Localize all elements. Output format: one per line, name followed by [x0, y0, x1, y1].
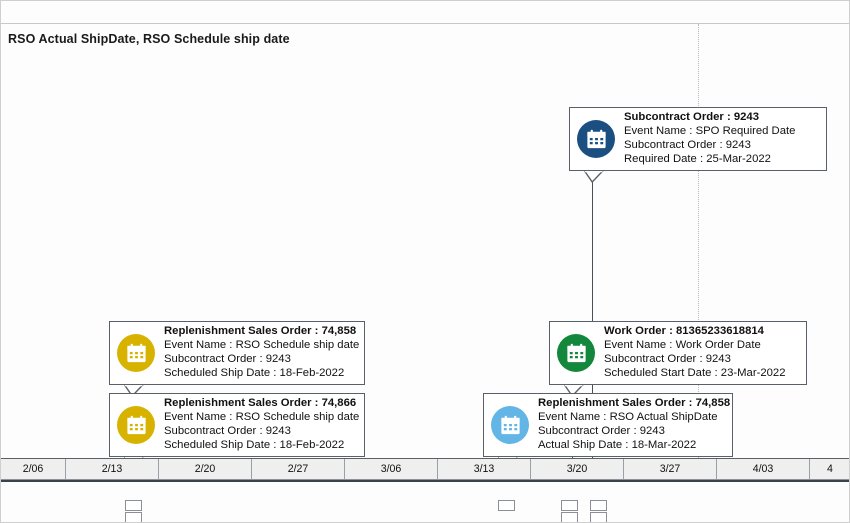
card-detail-line: Scheduled Ship Date : 18-Feb-2022: [164, 367, 359, 381]
card-detail-line: Event Name : RSO Schedule ship date: [164, 339, 359, 353]
marker-2-13-lower[interactable]: [125, 512, 142, 523]
marker-3-20-a-lower[interactable]: [561, 512, 578, 523]
work-order-card[interactable]: Work Order : 81365233618814Event Name : …: [549, 321, 807, 385]
marker-3-20-b-upper[interactable]: [590, 500, 607, 511]
card-detail-line: Scheduled Start Date : 23-Mar-2022: [604, 367, 785, 381]
card-text: Subcontract Order : 9243Event Name : SPO…: [624, 111, 795, 166]
calendar-icon: [557, 334, 595, 372]
title-divider: [1, 23, 850, 24]
card-heading: Work Order : 81365233618814: [604, 325, 785, 339]
card-text: Replenishment Sales Order : 74,866Event …: [164, 397, 359, 452]
card-detail-line: Event Name : Work Order Date: [604, 339, 785, 353]
axis-tick: 3/06: [345, 459, 438, 479]
card-text: Replenishment Sales Order : 74,858Event …: [538, 397, 730, 452]
marker-2-13-upper[interactable]: [125, 500, 142, 511]
card-pointer-tail: [584, 170, 604, 188]
page-title: RSO Actual ShipDate, RSO Schedule ship d…: [8, 32, 290, 46]
axis-baseline: [1, 480, 850, 482]
card-detail-line: Event Name : RSO Schedule ship date: [164, 411, 359, 425]
marker-3-20-a-upper[interactable]: [561, 500, 578, 511]
calendar-icon: [117, 406, 155, 444]
card-heading: Replenishment Sales Order : 74,858: [538, 397, 730, 411]
marker-3-20-b-lower[interactable]: [590, 512, 607, 523]
calendar-icon: [577, 120, 615, 158]
card-detail-line: Subcontract Order : 9243: [164, 353, 359, 367]
replenishment-sales-order-74858-card[interactable]: Replenishment Sales Order : 74,858Event …: [109, 321, 365, 385]
card-detail-line: Actual Ship Date : 18-Mar-2022: [538, 439, 730, 453]
axis-tick: 2/13: [66, 459, 159, 479]
card-text: Replenishment Sales Order : 74,858Event …: [164, 325, 359, 380]
timeline-chart: RSO Actual ShipDate, RSO Schedule ship d…: [0, 0, 850, 523]
card-detail-line: Required Date : 25-Mar-2022: [624, 153, 795, 167]
time-axis[interactable]: 2/062/132/202/273/063/133/203/274/034: [1, 458, 850, 480]
axis-tick: 4/03: [717, 459, 810, 479]
axis-tick: 4: [810, 459, 850, 479]
axis-tick: 3/27: [624, 459, 717, 479]
card-heading: Replenishment Sales Order : 74,858: [164, 325, 359, 339]
card-detail-line: Event Name : RSO Actual ShipDate: [538, 411, 730, 425]
card-detail-line: Subcontract Order : 9243: [164, 425, 359, 439]
calendar-icon: [117, 334, 155, 372]
axis-tick: 3/20: [531, 459, 624, 479]
card-text: Work Order : 81365233618814Event Name : …: [604, 325, 785, 380]
calendar-icon: [491, 406, 529, 444]
card-detail-line: Event Name : SPO Required Date: [624, 125, 795, 139]
card-detail-line: Subcontract Order : 9243: [538, 425, 730, 439]
axis-tick: 2/20: [159, 459, 252, 479]
replenishment-sales-order-actual-shipdate-card[interactable]: Replenishment Sales Order : 74,858Event …: [483, 393, 733, 457]
subcontract-order-card[interactable]: Subcontract Order : 9243Event Name : SPO…: [569, 107, 827, 171]
card-detail-line: Scheduled Ship Date : 18-Feb-2022: [164, 439, 359, 453]
replenishment-sales-order-74866-card[interactable]: Replenishment Sales Order : 74,866Event …: [109, 393, 365, 457]
card-heading: Subcontract Order : 9243: [624, 111, 795, 125]
axis-tick: 2/06: [1, 459, 66, 479]
marker-3-13[interactable]: [498, 500, 515, 511]
axis-tick: 3/13: [438, 459, 531, 479]
card-heading: Replenishment Sales Order : 74,866: [164, 397, 359, 411]
card-detail-line: Subcontract Order : 9243: [604, 353, 785, 367]
axis-tick: 2/27: [252, 459, 345, 479]
card-detail-line: Subcontract Order : 9243: [624, 139, 795, 153]
